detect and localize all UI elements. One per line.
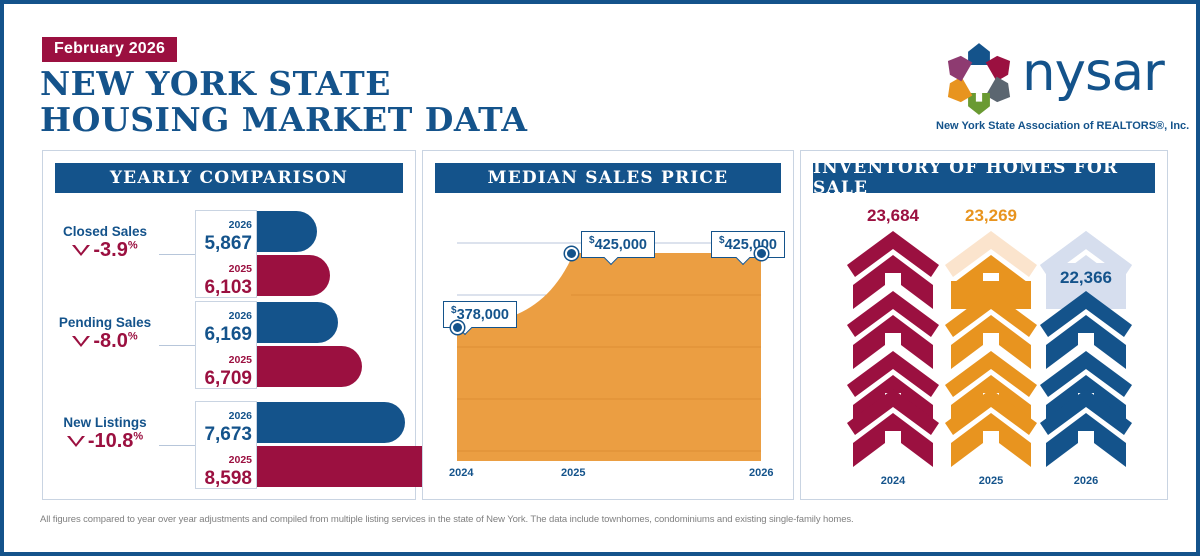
x-axis-label-2024: 2024: [449, 467, 473, 479]
metric-change-value: -10.8%: [88, 431, 143, 451]
data-point-2025: [565, 247, 578, 260]
value-cell-2026: 2026 7,673: [196, 402, 258, 446]
panel-median-sales-price: MEDIAN SALES PRICE $378,000 $425,000 $42…: [422, 150, 794, 500]
triangle-down-icon: [67, 436, 85, 447]
value-number: 6,169: [196, 325, 252, 344]
bar-2026: [257, 302, 338, 343]
bar-2025: [257, 346, 362, 387]
x-axis-label-2026: 2026: [749, 467, 773, 479]
inventory-year-label: 2025: [941, 475, 1041, 487]
yearly-group-label: New Listings -10.8%: [51, 415, 159, 451]
metric-change: -8.0%: [51, 331, 159, 351]
value-number: 8,598: [196, 469, 252, 488]
inventory-column-2026: 22,366 2026: [1036, 207, 1136, 467]
value-number: 7,673: [196, 425, 252, 444]
value-number: 5,867: [196, 234, 252, 253]
metric-name: Closed Sales: [51, 224, 159, 239]
house-stack-icon: [941, 229, 1041, 469]
connector-line: [159, 254, 195, 255]
metric-name: New Listings: [51, 415, 159, 430]
triangle-down-icon: [72, 336, 90, 347]
infographic-root: February 2026 NEW YORK STATE HOUSING MAR…: [0, 0, 1200, 556]
value-cell-2025: 2025 6,709: [196, 346, 258, 390]
metric-change: -3.9%: [51, 240, 159, 260]
value-cell-2025: 2025 8,598: [196, 446, 258, 490]
value-year: 2026: [196, 302, 252, 322]
value-year: 2026: [196, 211, 252, 231]
month-badge: February 2026: [42, 37, 177, 62]
connector-line: [159, 345, 195, 346]
inventory-year-label: 2026: [1036, 475, 1136, 487]
metric-name: Pending Sales: [51, 315, 159, 330]
value-year: 2025: [196, 255, 252, 275]
yearly-group-label: Pending Sales -8.0%: [51, 315, 159, 351]
value-cell-2025: 2025 6,103: [196, 255, 258, 299]
panel-inventory-homes: INVENTORY OF HOMES FOR SALE 23,684 2024 …: [800, 150, 1168, 500]
inventory-column-2025: 23,269 2025: [941, 207, 1041, 467]
yearly-group-new-listings: New Listings -10.8% 2026 7,673 2025 8,59…: [43, 399, 415, 491]
bar-2025: [257, 446, 447, 487]
inventory-year-label: 2024: [843, 475, 943, 487]
page-title-line2: HOUSING MARKET DATA: [40, 102, 528, 138]
house-stack-icon: [843, 229, 943, 469]
data-point-2024: [451, 321, 464, 334]
bar-2026: [257, 211, 317, 252]
connector-line: [159, 445, 195, 446]
value-box: 2026 6,169 2025 6,709: [195, 301, 257, 389]
bar-2026: [257, 402, 405, 443]
inventory-value: 23,269: [941, 207, 1041, 224]
page-title: NEW YORK STATE HOUSING MARKET DATA: [40, 66, 528, 137]
area-fill: [457, 253, 761, 461]
callout-2025: $425,000: [581, 231, 655, 258]
value-number: 6,709: [196, 369, 252, 388]
value-box: 2026 5,867 2025 6,103: [195, 210, 257, 298]
metric-change-value: -3.9%: [93, 240, 137, 260]
yearly-group-pending-sales: Pending Sales -8.0% 2026 6,169 2025 6,70…: [43, 299, 415, 391]
x-axis-label-2025: 2025: [561, 467, 585, 479]
yearly-group-closed-sales: Closed Sales -3.9% 2026 5,867 2025 6,103: [43, 208, 415, 300]
median-price-plot: $378,000 $425,000 $425,000 2024 2025 202…: [435, 203, 781, 487]
panel-title-inventory: INVENTORY OF HOMES FOR SALE: [813, 163, 1155, 193]
panel-title-median: MEDIAN SALES PRICE: [435, 163, 781, 193]
inventory-column-2024: 23,684 2024: [843, 207, 943, 467]
value-number: 6,103: [196, 278, 252, 297]
panel-title-yearly: YEARLY COMPARISON: [55, 163, 403, 193]
nysar-logo-mark-icon: [940, 40, 1018, 118]
value-cell-2026: 2026 6,169: [196, 302, 258, 346]
callout-2026: $425,000: [711, 231, 785, 258]
triangle-down-icon: [72, 245, 90, 256]
inventory-value: 22,366: [1036, 269, 1136, 286]
yearly-group-label: Closed Sales -3.9%: [51, 224, 159, 260]
value-cell-2026: 2026 5,867: [196, 211, 258, 255]
nysar-logo: nysar New York State Association of REAL…: [930, 40, 1162, 132]
value-box: 2026 7,673 2025 8,598: [195, 401, 257, 489]
logo-wordmark: nysar: [1022, 46, 1164, 99]
house-stack-icon: [1036, 229, 1136, 469]
panel-yearly-comparison: YEARLY COMPARISON Closed Sales -3.9% 202…: [42, 150, 416, 500]
footer-note: All figures compared to year over year a…: [40, 514, 854, 525]
page-title-line1: NEW YORK STATE: [40, 66, 528, 102]
bar-2025: [257, 255, 330, 296]
value-year: 2025: [196, 346, 252, 366]
logo-subtitle: New York State Association of REALTORS®,…: [936, 120, 1189, 132]
value-year: 2026: [196, 402, 252, 422]
value-year: 2025: [196, 446, 252, 466]
inventory-value: 23,684: [843, 207, 943, 224]
metric-change: -10.8%: [51, 431, 159, 451]
data-point-2026: [755, 247, 768, 260]
metric-change-value: -8.0%: [93, 331, 137, 351]
